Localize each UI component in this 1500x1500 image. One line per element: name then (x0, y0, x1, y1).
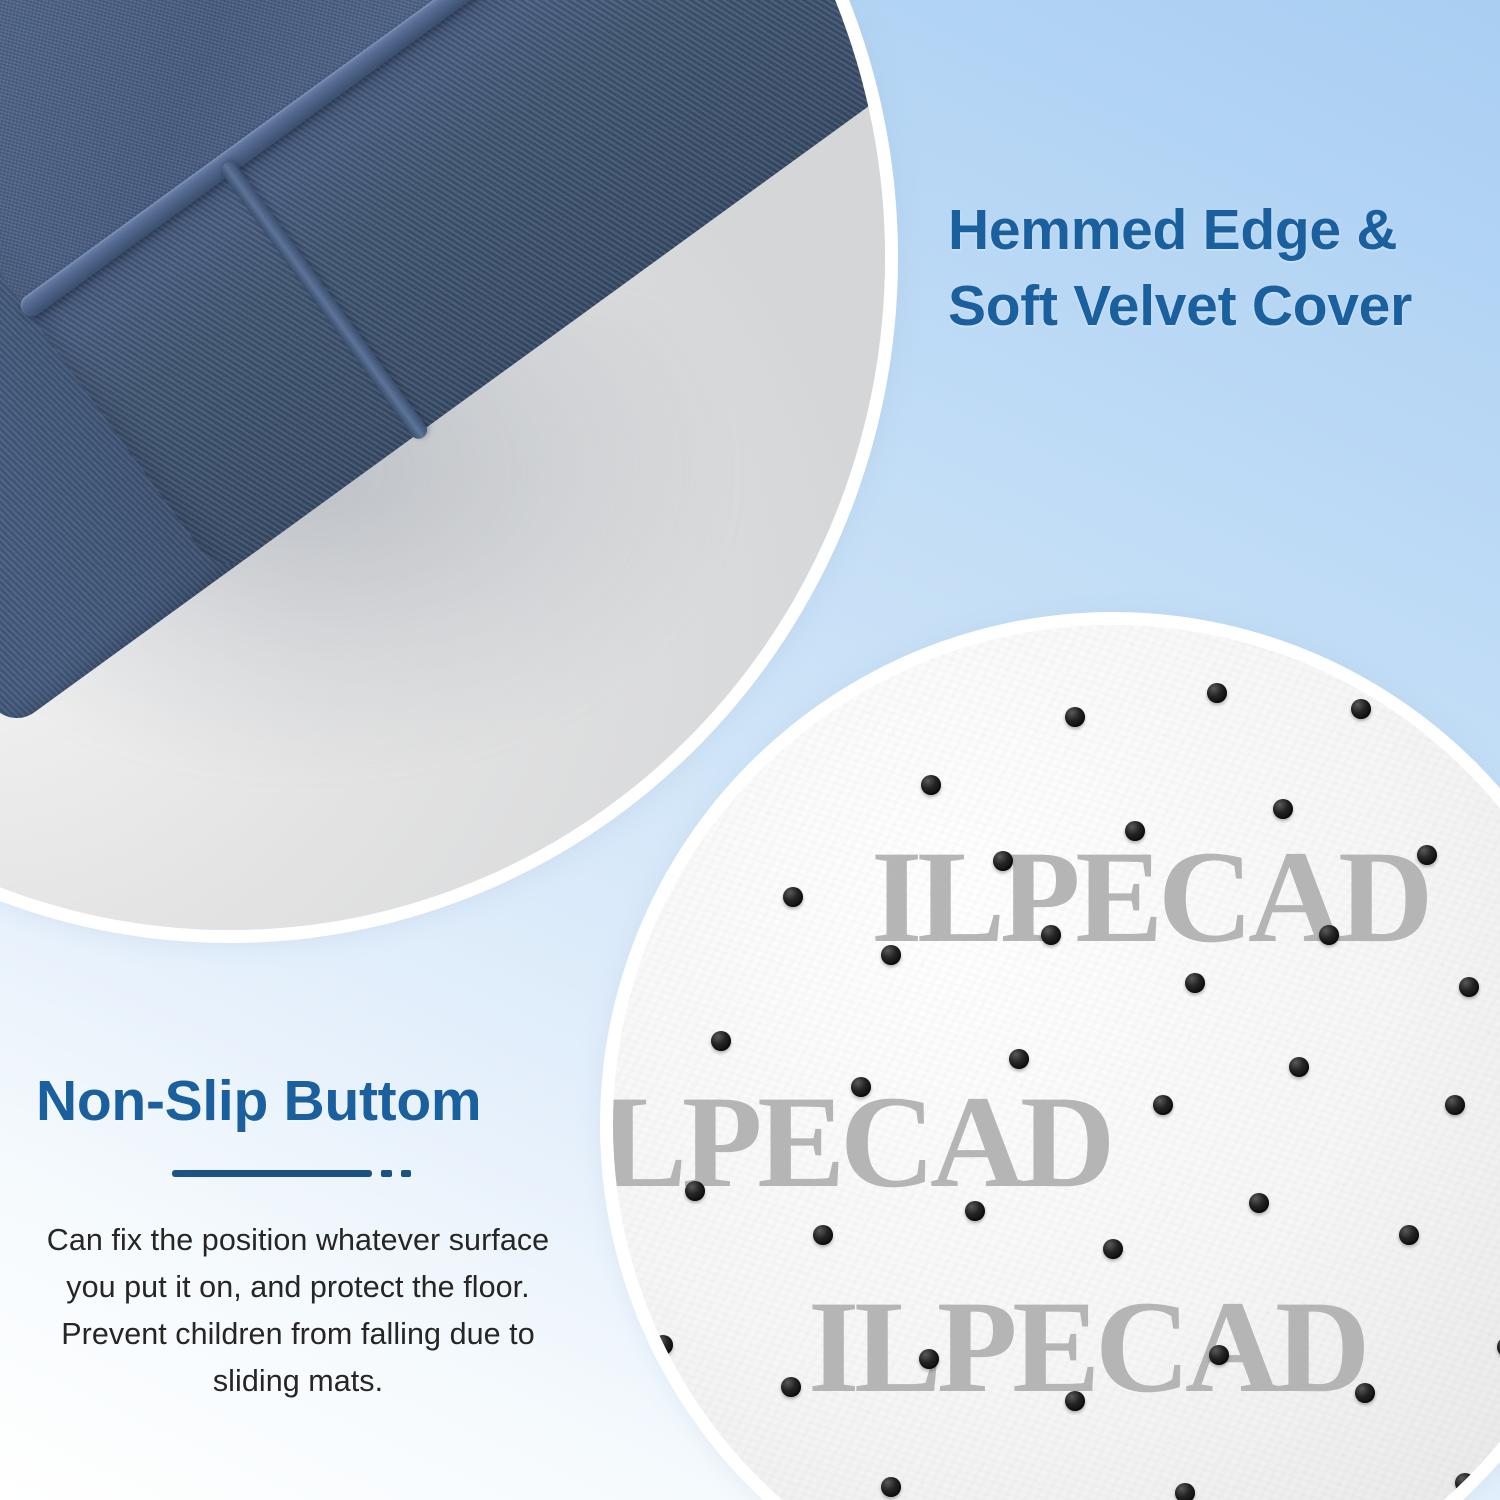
divider-dash-1 (381, 1170, 392, 1177)
brand-watermark-lower: ILPECAD (808, 1270, 1365, 1423)
rubber-dot (1319, 925, 1339, 945)
rubber-dot (851, 1077, 871, 1097)
rubber-dot (653, 1335, 673, 1355)
rubber-dot (1125, 821, 1145, 841)
feature-bottom-body: Can fix the position whatever surface yo… (28, 1217, 568, 1406)
rubber-dot (993, 851, 1013, 871)
rubber-dot (1041, 925, 1061, 945)
rubber-dot (881, 945, 901, 965)
divider-bar (172, 1170, 372, 1177)
rubber-dot (1399, 1225, 1419, 1245)
infographic-canvas: Hemmed Edge & Soft Velvet Cover ILPECAD … (0, 0, 1500, 1500)
nonslip-mat-photo-circle: ILPECAD ILPECAD ILPECAD (613, 625, 1500, 1500)
rubber-dot (1103, 1239, 1123, 1259)
rubber-dot (881, 1477, 901, 1497)
rubber-dot (1207, 683, 1227, 703)
rubber-dot (1209, 1345, 1229, 1365)
rubber-dot (965, 1201, 985, 1221)
rubber-dot (711, 1031, 731, 1051)
rubber-dot (919, 1349, 939, 1369)
rubber-dot (921, 775, 941, 795)
feature-top-heading-line1: Hemmed Edge & (948, 193, 1468, 269)
rubber-dot (1009, 1049, 1029, 1069)
rubber-dot (1185, 973, 1205, 993)
rubber-dot (1289, 1057, 1309, 1077)
rubber-dot (1355, 1383, 1375, 1403)
rubber-dot (1475, 753, 1495, 773)
rubber-dot (1417, 845, 1437, 865)
rubber-dot (783, 887, 803, 907)
rubber-dot (1175, 1483, 1195, 1500)
feature-top-heading: Hemmed Edge & Soft Velvet Cover (948, 193, 1468, 345)
feature-bottom-body-line1: Can fix the position whatever surface (28, 1217, 568, 1264)
rubber-dot (1273, 799, 1293, 819)
brand-watermark-upper: ILPECAD (871, 820, 1428, 973)
rubber-dot (1445, 1095, 1465, 1115)
rubber-dot (813, 1225, 833, 1245)
feature-bottom-text-block: Non-Slip Buttom Can fix the position wha… (28, 1070, 568, 1406)
rubber-dot (685, 1181, 705, 1201)
rubber-dot (1351, 699, 1371, 719)
feature-top-heading-line2: Soft Velvet Cover (948, 269, 1468, 345)
rubber-dot (1459, 977, 1479, 997)
section-divider (172, 1170, 568, 1177)
feature-bottom-heading: Non-Slip Buttom (28, 1070, 568, 1133)
rubber-dot (1455, 1473, 1475, 1493)
feature-bottom-body-line2: you put it on, and protect the floor. (28, 1264, 568, 1311)
rubber-dot (1065, 707, 1085, 727)
rubber-dot (1065, 1391, 1085, 1411)
divider-dash-2 (401, 1170, 411, 1177)
rubber-dot (1153, 1095, 1173, 1115)
feature-bottom-body-line3: Prevent children from falling due to (28, 1311, 568, 1358)
rubber-dot (781, 1377, 801, 1397)
feature-bottom-body-line4: sliding mats. (28, 1358, 568, 1405)
rubber-dot (1249, 1193, 1269, 1213)
